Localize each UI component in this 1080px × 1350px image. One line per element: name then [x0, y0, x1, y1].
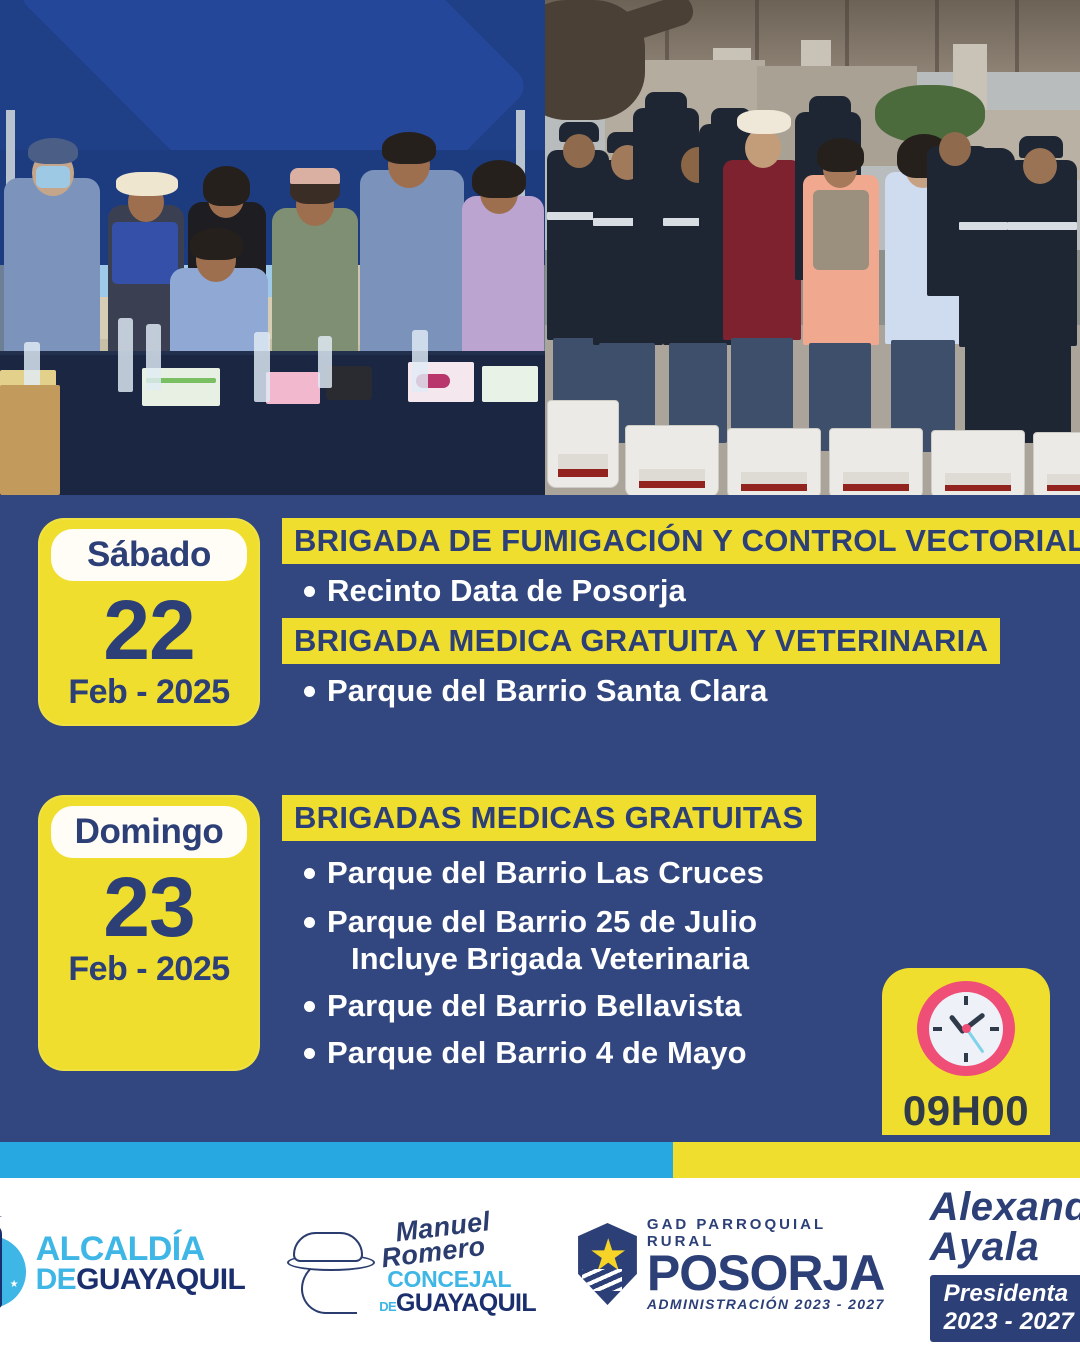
list-item-label: Recinto Data de Posorja	[327, 573, 686, 608]
person-hair	[382, 132, 436, 164]
block-title: BRIGADA MEDICA GRATUITA Y VETERINARIA	[282, 618, 1000, 664]
date-card-saturday: Sábado 22 Feb - 2025	[38, 518, 260, 726]
stripe-cyan	[0, 1142, 673, 1178]
logo-posorja: ★ GAD PARROQUIAL RURAL POSORJA ADMINISTR…	[578, 1216, 888, 1312]
water-bottle	[412, 330, 428, 392]
safety-vest	[813, 190, 869, 270]
list-item: Parque del Barrio Las Cruces	[304, 855, 1038, 890]
supply-bucket	[829, 428, 923, 495]
clock-tick	[964, 1053, 968, 1062]
time-label: 09H00	[903, 1087, 1029, 1135]
month-year: Feb - 2025	[68, 950, 229, 989]
bullet-icon	[304, 686, 315, 697]
logo-line-2: DEGUAYAQUIL	[379, 1291, 536, 1316]
bullet-icon	[304, 917, 315, 928]
schedule-row-saturday: Sábado 22 Feb - 2025 BRIGADA DE FUMIGACI…	[38, 518, 1038, 726]
person-cap	[28, 138, 78, 164]
block-title: BRIGADAS MEDICAS GRATUITAS	[282, 795, 816, 841]
day-name: Sábado	[51, 529, 247, 581]
supply-bucket	[625, 425, 719, 495]
clock-center-pin	[962, 1024, 971, 1033]
list-item: Parque del Barrio 25 de Julio	[304, 904, 1038, 939]
logo-line-2-main: GUAYAQUIL	[76, 1263, 245, 1296]
list-item: Parque del Barrio Santa Clara	[304, 673, 1080, 708]
reflective-stripe	[1007, 222, 1077, 230]
water-bottle	[254, 332, 270, 402]
logo-line-1: ALCALDÍA	[36, 1233, 246, 1265]
supply-bucket	[931, 430, 1025, 495]
list-item-label: Parque del Barrio Santa Clara	[327, 673, 768, 708]
medicine-box	[482, 366, 538, 402]
worker-cap	[645, 92, 687, 114]
supply-bucket	[547, 400, 619, 488]
person-hair	[203, 166, 250, 206]
logo-line-1: CONCEJAL	[387, 1268, 536, 1291]
worker	[1007, 160, 1077, 346]
logo-alexandra-ayala: Alexandra Ayala Presidenta 2023 - 2027	[930, 1187, 1080, 1342]
stripe-yellow	[673, 1142, 1080, 1178]
date-card-sunday: Domingo 23 Feb - 2025	[38, 795, 260, 1071]
shield-star-icon: ★	[578, 1223, 637, 1305]
supply-bucket	[1033, 432, 1080, 495]
face-mask	[36, 166, 70, 188]
medicine-box	[266, 372, 320, 404]
list-item-label: Parque del Barrio 25 de Julio	[327, 904, 757, 939]
bullet-icon	[304, 868, 315, 879]
worker-head	[563, 134, 595, 168]
logo-line-2-prefix: DE	[36, 1263, 76, 1296]
month-year: Feb - 2025	[68, 673, 229, 712]
list-item: Recinto Data de Posorja	[304, 573, 1080, 608]
bullet-icon	[304, 1001, 315, 1012]
logo-name: Alexandra Ayala	[930, 1187, 1080, 1267]
photo-strip	[0, 0, 1080, 495]
footer-logos: ✦ ★ ★ ALCALDÍA DEGUAYAQUIL Manuel Romero…	[0, 1178, 1080, 1350]
day-number: 23	[103, 866, 194, 948]
wooden-stool	[0, 385, 60, 495]
logo-line-2: DEGUAYAQUIL	[36, 1265, 246, 1295]
worker-head	[1023, 148, 1057, 184]
clock-icon	[917, 981, 1015, 1076]
worker-cap	[809, 96, 851, 118]
logo-alcaldia-de-guayaquil: ✦ ★ ★ ALCALDÍA DEGUAYAQUIL	[0, 1218, 245, 1310]
supply-bucket	[727, 428, 821, 495]
bullet-icon	[304, 1048, 315, 1059]
list-item-label: Parque del Barrio 4 de Mayo	[327, 1035, 747, 1070]
schedule-blocks-saturday: BRIGADA DE FUMIGACIÓN Y CONTROL VECTORIA…	[282, 518, 1080, 726]
staff-hair	[817, 138, 864, 172]
clock-tick	[990, 1027, 999, 1031]
day-name: Domingo	[51, 806, 247, 858]
clock-face	[929, 992, 1003, 1066]
logo-bottom-line: ADMINISTRACIÓN 2023 - 2027	[647, 1296, 888, 1312]
time-badge: 09H00	[882, 968, 1050, 1135]
list-item-label: Parque del Barrio Bellavista	[327, 988, 742, 1023]
clock-tick	[933, 1027, 942, 1031]
spray-bottle	[318, 336, 332, 388]
panama-hat	[737, 110, 791, 134]
worker-pants	[1013, 345, 1071, 443]
day-number: 22	[103, 589, 194, 671]
device	[326, 366, 372, 400]
bullet-icon	[304, 586, 315, 597]
list-item-label: Parque del Barrio Las Cruces	[327, 855, 764, 890]
color-stripe	[0, 1142, 1080, 1178]
visor-cap	[290, 168, 340, 184]
logo-manuel-romero: Manuel Romero CONCEJAL DEGUAYAQUIL	[287, 1212, 536, 1316]
hat-portrait-icon	[287, 1216, 379, 1312]
logo-line-2-main: GUAYAQUIL	[396, 1289, 536, 1317]
safety-vest	[112, 222, 178, 284]
worker-head	[939, 132, 971, 166]
logo-role-badge: Presidenta 2023 - 2027	[930, 1275, 1080, 1342]
logo-main-line: POSORJA	[647, 1250, 888, 1296]
photo-medical-brigade	[0, 0, 545, 495]
sun-hat	[116, 172, 178, 196]
person-hair	[472, 160, 526, 198]
block-title: BRIGADA DE FUMIGACIÓN Y CONTROL VECTORIA…	[282, 518, 1080, 564]
logo-line-2-prefix: DE	[379, 1299, 396, 1314]
official-red-shirt	[723, 160, 801, 340]
person-hair	[190, 228, 243, 260]
photo-fumigation-crew	[545, 0, 1080, 495]
guayaquil-monument-icon: ✦ ★ ★	[0, 1218, 28, 1310]
official-head	[745, 128, 781, 168]
clock-tick	[964, 996, 968, 1005]
poster: Sábado 22 Feb - 2025 BRIGADA DE FUMIGACI…	[0, 0, 1080, 1350]
water-bottle	[118, 318, 133, 392]
water-bottle	[146, 324, 161, 390]
